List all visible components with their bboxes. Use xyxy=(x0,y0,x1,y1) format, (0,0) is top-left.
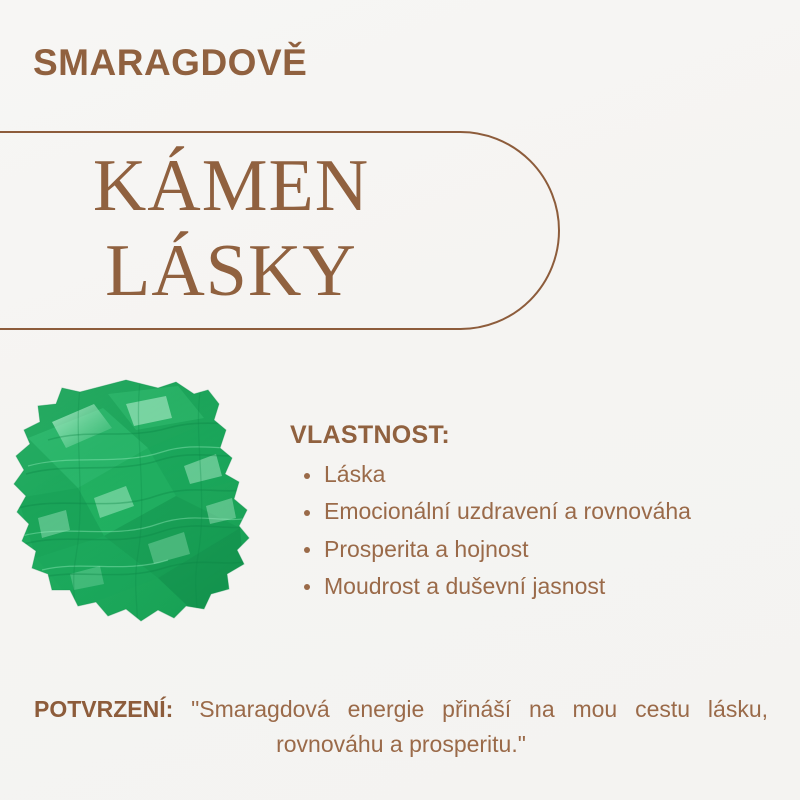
properties-section: VLASTNOST: Láska Emocionální uzdravení a… xyxy=(290,420,790,605)
list-item-label: Emocionální uzdravení a rovnováha xyxy=(324,498,691,524)
affirmation-label: POTVRZENÍ: xyxy=(34,696,173,722)
list-item: Láska xyxy=(290,456,790,493)
properties-heading: VLASTNOST: xyxy=(290,420,790,450)
title-line-2: LÁSKY xyxy=(0,235,462,308)
properties-list: Láska Emocionální uzdravení a rovnováha … xyxy=(290,456,790,605)
list-item-label: Láska xyxy=(324,461,385,487)
title-line-1: KÁMEN xyxy=(0,150,462,223)
affirmation-section: POTVRZENÍ: "Smaragdová energie přináší n… xyxy=(34,692,768,761)
list-item-label: Prosperita a hojnost xyxy=(324,536,529,562)
kicker-text: SMARAGDOVĚ xyxy=(33,44,307,83)
bullet-icon xyxy=(304,547,310,553)
emerald-crystal-icon xyxy=(8,378,270,636)
affirmation-text: "Smaragdová energie přináší na mou cestu… xyxy=(191,696,768,757)
bullet-icon xyxy=(304,510,310,516)
poster-canvas: SMARAGDOVĚ KÁMEN LÁSKY xyxy=(0,0,800,800)
list-item: Prosperita a hojnost xyxy=(290,531,790,568)
list-item: Emocionální uzdravení a rovnováha xyxy=(290,493,790,530)
page-title: KÁMEN LÁSKY xyxy=(0,150,462,309)
bullet-icon xyxy=(304,473,310,479)
list-item-label: Moudrost a duševní jasnost xyxy=(324,573,605,599)
list-item: Moudrost a duševní jasnost xyxy=(290,568,790,605)
bullet-icon xyxy=(304,584,310,590)
